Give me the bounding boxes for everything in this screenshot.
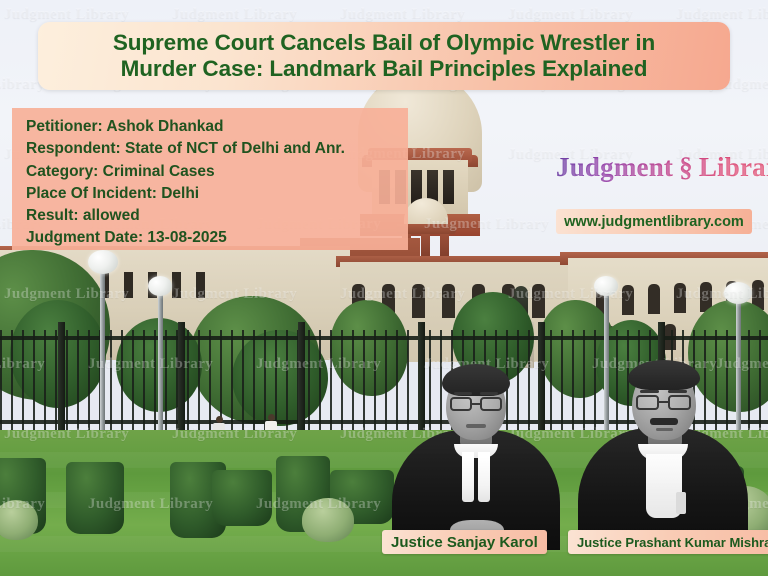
dome-window <box>443 170 454 204</box>
detail-place: Place Of Incident: Delhi <box>26 183 408 205</box>
advocate-band <box>478 452 490 502</box>
fence-rail <box>0 336 768 340</box>
detail-result: Result: allowed <box>26 205 408 227</box>
building-window <box>532 284 545 318</box>
building-window <box>196 272 205 298</box>
detail-petitioner: Petitioner: Ashok Dhankad <box>26 116 408 138</box>
headline-panel: Supreme Court Cancels Bail of Olympic Wr… <box>38 22 730 90</box>
mouth <box>656 428 673 431</box>
judge-name-text: Justice Sanjay Karol <box>391 534 538 551</box>
building-window <box>412 284 425 318</box>
judge-portrait-prashant-kumar-mishra <box>578 360 748 550</box>
judgment-library-promo-card: Judgment Library Judgment Library Judgme… <box>0 0 768 576</box>
person-head <box>268 414 275 421</box>
hedge <box>66 462 124 534</box>
lamp-globe <box>148 276 172 296</box>
lamp-globe <box>724 282 752 304</box>
fence-post <box>178 322 185 442</box>
mouth <box>466 424 486 428</box>
judge-portrait-sanjay-karol <box>392 360 560 550</box>
advocate-band <box>462 452 474 502</box>
brand-word-judgment: Judgment <box>556 152 673 182</box>
detail-judgment-date: Judgment Date: 13-08-2025 <box>26 227 408 249</box>
website-url-badge[interactable]: www.judgmentlibrary.com <box>556 209 752 234</box>
case-details-panel: Petitioner: Ashok Dhankad Respondent: St… <box>12 108 408 250</box>
eyeglass-lens <box>450 397 472 411</box>
hedge <box>212 470 272 526</box>
eyebrow <box>668 390 687 393</box>
pocket-detail <box>676 492 686 514</box>
website-url-text: www.judgmentlibrary.com <box>564 214 744 230</box>
detail-category: Category: Criminal Cases <box>26 161 408 183</box>
hair <box>628 360 700 390</box>
moustache <box>650 418 678 425</box>
eyeglass-lens <box>480 397 502 411</box>
judge-name-badge-prashant-kumar-mishra: Justice Prashant Kumar Mishra <box>568 530 768 554</box>
lamp-globe <box>88 250 118 274</box>
building-window <box>442 284 455 318</box>
judge-name-badge-sanjay-karol: Justice Sanjay Karol <box>382 530 547 554</box>
headline-line-2: Murder Case: Landmark Bail Principles Ex… <box>121 56 648 82</box>
eyeglass-bridge <box>472 403 480 405</box>
flowering-bush <box>302 498 354 542</box>
person-head <box>216 416 223 423</box>
building-window <box>172 272 181 298</box>
eyebrow <box>480 392 498 395</box>
headline-line-1: Supreme Court Cancels Bail of Olympic Wr… <box>113 30 655 56</box>
eyeglass-bridge <box>659 401 668 403</box>
eyebrow <box>454 392 472 395</box>
brand-word-library: Library <box>699 152 768 182</box>
fence-post <box>58 322 65 442</box>
fence-post <box>298 322 305 442</box>
eyeglass-lens <box>636 395 659 410</box>
detail-respondent: Respondent: State of NCT of Delhi and An… <box>26 138 408 160</box>
lamp-post <box>158 290 163 440</box>
building-window <box>124 272 133 298</box>
eyebrow <box>640 390 659 393</box>
judge-name-text: Justice Prashant Kumar Mishra <box>577 535 768 550</box>
eyeglass-lens <box>668 395 691 410</box>
section-symbol-icon: § <box>679 152 693 182</box>
lamp-globe <box>594 276 618 296</box>
lamp-post <box>100 268 105 448</box>
flowering-bush <box>0 500 38 540</box>
building-window <box>622 285 634 315</box>
brand-logo[interactable]: Judgment§Library <box>556 152 768 183</box>
building-window <box>674 283 686 313</box>
hair <box>442 364 510 396</box>
building-window <box>648 284 660 314</box>
